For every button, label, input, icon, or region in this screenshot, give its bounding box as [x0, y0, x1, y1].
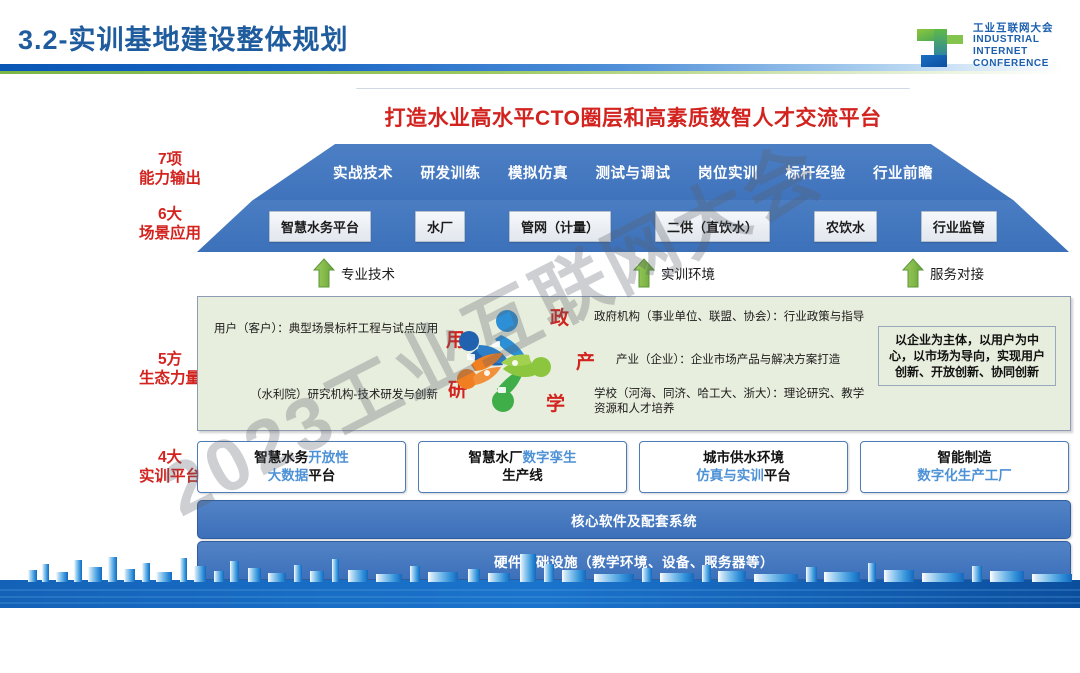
- platform-text-part1: 智慧水务: [254, 450, 308, 465]
- platform-box-smart-manufacturing[interactable]: 智能制造 数字化生产工厂: [860, 441, 1069, 493]
- pyramid-capability-band: 实战技术 研发训练 模拟仿真 测试与调试 岗位实训 标杆经验 行业前瞻: [253, 144, 1013, 200]
- platform-text-part3: 仿真与实训: [696, 468, 764, 483]
- logo-text: 工业互联网大会 INDUSTRIAL INTERNET CONFERENCE: [973, 22, 1054, 70]
- platform-text-part1: 智慧水厂: [469, 450, 523, 465]
- header-divider-blue: [0, 64, 1062, 71]
- scenario-box[interactable]: 管网（计量）: [509, 211, 611, 242]
- arrow-label: 实训环境: [661, 263, 715, 283]
- platform-text-part2: 数字孪生: [523, 450, 577, 465]
- ecosystem-industry-text: 产业（企业）：企业市场产品与解决方案打造: [616, 353, 840, 368]
- logo-title-en-1: INDUSTRIAL: [973, 34, 1054, 46]
- capability-item: 模拟仿真: [508, 162, 568, 183]
- platform-text-part1: 智能制造: [938, 450, 992, 465]
- platform-text-part1: 城市供水环境: [703, 450, 784, 465]
- capability-item: 测试与调试: [596, 162, 671, 183]
- pinwheel-people-icon: [443, 305, 563, 417]
- pyramid-headline-band: 打造水业高水平CTO圈层和高素质数智人才交流平台: [335, 88, 931, 146]
- platform-text-part2: 开放性: [308, 450, 349, 465]
- ecosystem-key-chan: 产: [576, 347, 595, 374]
- pyramid-scenario-band: 智慧水务平台 水厂 管网（计量） 二供（直饮水） 农饮水 行业监管: [197, 200, 1069, 252]
- arrow-label: 专业技术: [341, 263, 395, 283]
- conference-logo: 工业互联网大会 INDUSTRIAL INTERNET CONFERENCE: [915, 22, 1070, 77]
- skyline-icon: [0, 552, 1080, 608]
- arrow-label: 服务对接: [930, 263, 984, 283]
- ecosystem-panel: 用户（客户）：典型场景标杆工程与试点应用 （水利院）研究机构-技术研发与创新 政…: [197, 296, 1071, 431]
- capability-item: 标杆经验: [786, 162, 846, 183]
- side-label-capabilities-line2: 能力输出: [105, 169, 235, 188]
- bottom-skyline-decoration: [0, 552, 1080, 608]
- base-bar-core-software: 核心软件及配套系统: [197, 500, 1071, 539]
- arrow-up-icon: [313, 258, 335, 288]
- platform-text-part4: 平台: [764, 468, 791, 483]
- side-label-capabilities-line1: 7项: [105, 150, 235, 169]
- scenario-box[interactable]: 智慧水务平台: [269, 211, 371, 242]
- ecosystem-principle-note: 以企业为主体，以用户为中心，以市场为导向，实现用户创新、开放创新、协同创新: [878, 326, 1056, 386]
- platform-box-smart-water-bigdata[interactable]: 智慧水务开放性 大数据平台: [197, 441, 406, 493]
- scenario-box[interactable]: 行业监管: [921, 211, 997, 242]
- scenario-box[interactable]: 农饮水: [814, 211, 877, 242]
- logo-title-en-2: INTERNET: [973, 46, 1054, 58]
- arrow-up-icon: [633, 258, 655, 288]
- capability-item: 研发训练: [421, 162, 481, 183]
- ecosystem-government-text: 政府机构（事业单位、联盟、协会）：行业政策与指导: [594, 310, 864, 325]
- platform-text-part4: 平台: [308, 468, 335, 483]
- pyramid-headline: 打造水业高水平CTO圈层和高素质数智人才交流平台: [385, 102, 882, 132]
- side-label-capabilities: 7项 能力输出: [105, 150, 235, 188]
- platform-text-part3: 大数据: [268, 468, 309, 483]
- page-title: 3.2-实训基地建设整体规划: [18, 18, 349, 57]
- platform-box-urban-water-sim[interactable]: 城市供水环境 仿真与实训平台: [639, 441, 848, 493]
- ecosystem-school-text-2: 资源和人才培养: [594, 402, 675, 417]
- ecosystem-user-text: 用户（客户）：典型场景标杆工程与试点应用: [214, 322, 438, 337]
- scenario-box[interactable]: 二供（直饮水）: [655, 211, 770, 242]
- ecosystem-research-text: （水利院）研究机构-技术研发与创新: [250, 388, 438, 403]
- arrow-group-training-env: 实训环境: [633, 258, 715, 288]
- arrow-group-professional-tech: 专业技术: [313, 258, 395, 288]
- arrow-up-icon: [902, 258, 924, 288]
- platform-row: 智慧水务开放性 大数据平台 智慧水厂数字孪生 生产线 城市供水环境 仿真与实训平…: [197, 441, 1069, 493]
- side-label-scenarios-line1: 6大: [105, 205, 235, 224]
- platform-text-part3: 数字化生产工厂: [917, 468, 1012, 483]
- logo-title-cn: 工业互联网大会: [973, 22, 1054, 34]
- arrow-group-service-docking: 服务对接: [902, 258, 984, 288]
- capability-item: 行业前瞻: [873, 162, 933, 183]
- logo-mark-icon: [915, 25, 967, 71]
- logo-title-en-3: CONFERENCE: [973, 58, 1054, 70]
- platform-box-digital-twin-line[interactable]: 智慧水厂数字孪生 生产线: [418, 441, 627, 493]
- scenario-box[interactable]: 水厂: [415, 211, 465, 242]
- header-divider-green: [0, 71, 1062, 74]
- platform-text-part4: 生产线: [502, 468, 543, 483]
- capability-item: 岗位实训: [698, 162, 758, 183]
- capability-item: 实战技术: [333, 162, 393, 183]
- ecosystem-school-text-1: 学校（河海、同济、哈工大、浙大）：理论研究、教学: [594, 387, 864, 402]
